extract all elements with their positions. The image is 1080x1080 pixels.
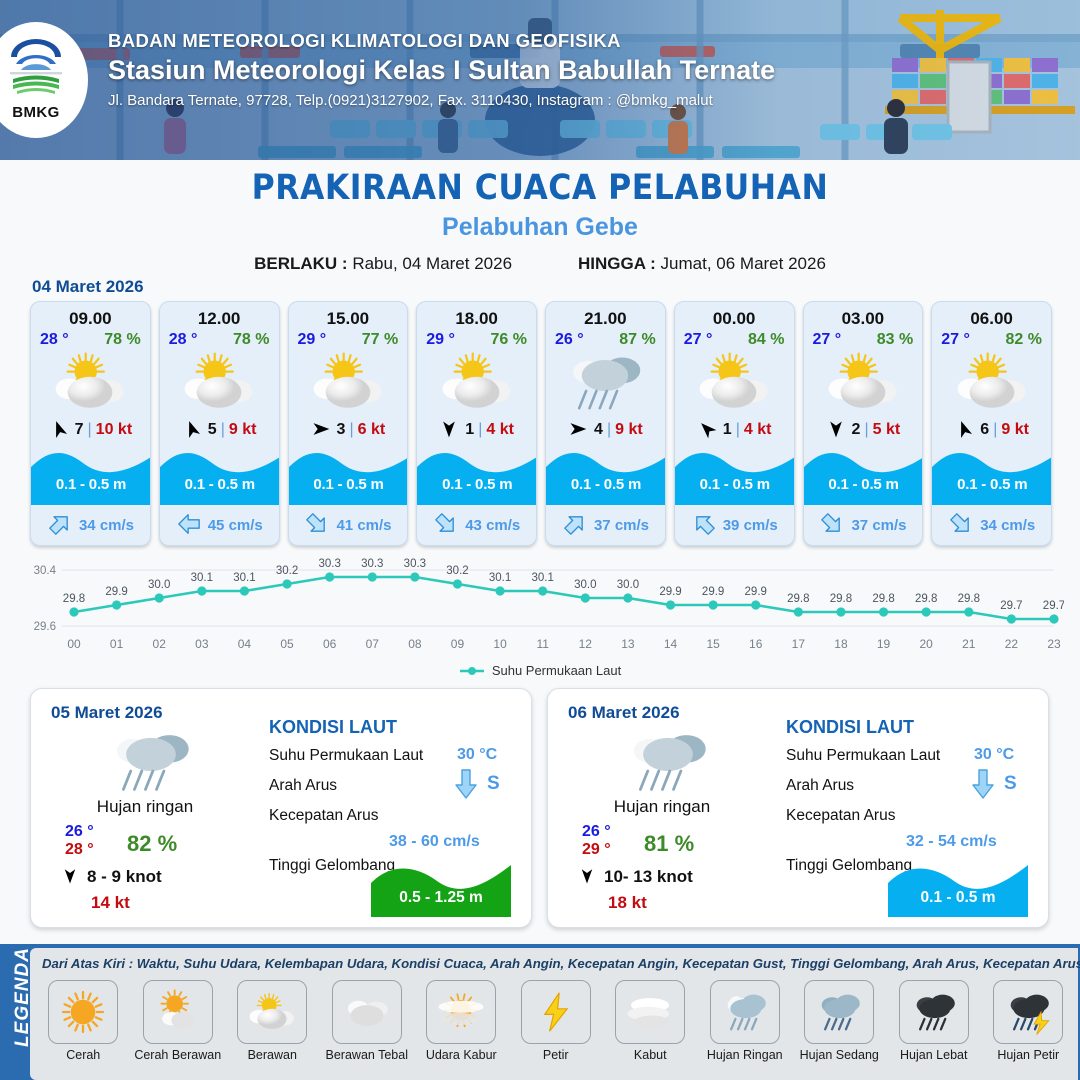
bmkg-logo-text: BMKG <box>12 104 59 121</box>
svg-text:30.0: 30.0 <box>148 579 170 591</box>
card-wind-row: 3 | 6 kt <box>289 415 408 445</box>
card-wave-graphic <box>417 445 537 505</box>
daily-wave-height: 0.5 - 1.25 m <box>371 889 511 907</box>
legend-item: Udara Kabur <box>414 980 509 1062</box>
svg-text:05: 05 <box>280 637 294 651</box>
legend-icon-box <box>804 980 874 1044</box>
current-direction-value: S <box>487 773 500 795</box>
card-temp-humidity-row: 27 ° 82 % <box>932 329 1051 349</box>
card-weather-icon <box>31 351 150 413</box>
card-wind-separator: | <box>221 421 225 439</box>
daily-gust: 14 kt <box>91 893 130 913</box>
wind-direction-icon <box>568 419 588 439</box>
card-time: 12.00 <box>160 309 279 329</box>
current-direction-icon <box>687 508 720 541</box>
daily-weather-icon <box>622 725 714 802</box>
forecast-card: 09.00 28 ° 78 % 7 <box>30 301 151 546</box>
sst-value: 30 °C <box>457 746 497 764</box>
svg-text:29.8: 29.8 <box>872 593 894 605</box>
card-wave-height: 0.1 - 0.5 m <box>546 476 666 493</box>
current-direction-icon <box>48 513 74 537</box>
card-wave-height: 0.1 - 0.5 m <box>289 476 409 493</box>
svg-text:30.2: 30.2 <box>276 565 298 577</box>
card-wind-row: 6 | 9 kt <box>932 415 1051 445</box>
card-time: 18.00 <box>417 309 536 329</box>
card-wave-graphic <box>804 445 924 505</box>
legend-item: Cerah Berawan <box>131 980 226 1062</box>
valid-from: BERLAKU : Rabu, 04 Maret 2026 <box>254 254 512 274</box>
card-temperature: 29 ° <box>298 331 327 349</box>
page-title: PRAKIRAAN CUACA PELABUHAN <box>0 168 1080 208</box>
card-wind-row: 5 | 9 kt <box>160 415 279 445</box>
current-speed-value: 38 - 60 cm/s <box>389 833 480 851</box>
card-current-row: 34 cm/s <box>932 513 1052 537</box>
legend-icon-box <box>48 980 118 1044</box>
legend-item: Berawan <box>225 980 320 1062</box>
card-wave-graphic <box>546 445 666 505</box>
card-wave-height: 0.1 - 0.5 m <box>31 476 151 493</box>
card-current-row: 34 cm/s <box>31 513 151 537</box>
legend-line-marker <box>459 666 485 676</box>
card-wave-graphic <box>932 445 1052 505</box>
svg-text:10: 10 <box>493 637 507 651</box>
card-time: 15.00 <box>289 309 408 329</box>
card-wind-degree: 2 <box>852 421 861 439</box>
daily-wave-height: 0.1 - 0.5 m <box>888 889 1028 907</box>
card-wind-separator: | <box>607 421 611 439</box>
bmkg-logo-mark <box>5 39 67 103</box>
wind-direction-icon <box>179 416 205 442</box>
sun-icon <box>60 989 106 1035</box>
daily-condition: Hujan ringan <box>31 797 259 817</box>
card-wave-height: 0.1 - 0.5 m <box>417 476 537 493</box>
current-speed-value: 32 - 54 cm/s <box>906 833 997 851</box>
card-weather-icon <box>546 351 665 413</box>
forecast-card: 03.00 27 ° 83 % 2 <box>803 301 924 546</box>
card-current-speed: 41 cm/s <box>336 517 391 534</box>
page-header: BMKG BADAN METEOROLOGI KLIMATOLOGI DAN G… <box>0 0 1080 160</box>
current-direction-icon <box>949 513 975 537</box>
daily-temperature-group: 26 ° 29 ° <box>582 823 611 859</box>
wind-direction-icon <box>182 419 204 441</box>
moderate-rain-icon <box>813 986 865 1038</box>
card-current-speed: 39 cm/s <box>723 517 778 534</box>
current-direction-icon <box>178 512 200 536</box>
valid-from-label: BERLAKU : <box>254 254 348 273</box>
card-wave-graphic <box>31 445 151 505</box>
card-wind-degree: 1 <box>723 421 732 439</box>
current-direction-icon <box>816 508 849 541</box>
legend-item: Hujan Ringan <box>698 980 793 1062</box>
legend-item-label: Hujan Sedang <box>800 1048 879 1062</box>
card-wind-degree: 7 <box>75 421 84 439</box>
svg-text:29.8: 29.8 <box>830 593 852 605</box>
wind-direction-icon <box>951 416 977 442</box>
wind-direction-icon <box>311 419 333 441</box>
card-gust: 9 kt <box>615 421 643 439</box>
legend-icon-box <box>521 980 591 1044</box>
valid-to: HINGGA : Jumat, 06 Maret 2026 <box>578 254 826 274</box>
svg-text:17: 17 <box>792 637 806 651</box>
card-wave-height: 0.1 - 0.5 m <box>932 476 1052 493</box>
valid-to-label: HINGGA : <box>578 254 656 273</box>
wind-direction-icon <box>697 419 719 441</box>
card-gust: 9 kt <box>229 421 257 439</box>
legend-icon-box <box>237 980 307 1044</box>
agency-name: BADAN METEOROLOGI KLIMATOLOGI DAN GEOFIS… <box>108 30 868 52</box>
daily-date: 05 Maret 2026 <box>51 703 163 723</box>
card-time: 09.00 <box>31 309 150 329</box>
legend-icon-box <box>615 980 685 1044</box>
card-temp-humidity-row: 28 ° 78 % <box>160 329 279 349</box>
sst-value: 30 °C <box>974 746 1014 764</box>
legend-item-label: Udara Kabur <box>426 1048 497 1062</box>
card-wave-graphic <box>289 445 409 505</box>
svg-text:16: 16 <box>749 637 763 651</box>
card-current-speed: 34 cm/s <box>79 517 134 534</box>
svg-text:01: 01 <box>110 637 124 651</box>
card-temp-humidity-row: 26 ° 87 % <box>546 329 665 349</box>
card-gust: 10 kt <box>96 421 132 439</box>
legend-icon-box <box>143 980 213 1044</box>
svg-text:30.0: 30.0 <box>617 579 639 591</box>
card-current-row: 37 cm/s <box>804 513 924 537</box>
card-gust: 4 kt <box>744 421 772 439</box>
current-direction-icon <box>434 513 460 537</box>
card-wind-separator: | <box>864 421 868 439</box>
card-wind-separator: | <box>88 421 92 439</box>
current-direction-icon <box>945 508 978 541</box>
svg-text:19: 19 <box>877 637 891 651</box>
card-weather-icon <box>675 351 794 413</box>
daily-temp-max: 29 ° <box>582 841 611 859</box>
daily-temp-min: 26 ° <box>582 823 611 841</box>
card-current-speed: 45 cm/s <box>208 517 263 534</box>
card-wind-separator: | <box>349 421 353 439</box>
card-wind-degree: 4 <box>594 421 603 439</box>
card-wind-row: 1 | 4 kt <box>417 415 536 445</box>
card-current-row: 39 cm/s <box>675 513 795 537</box>
svg-text:06: 06 <box>323 637 337 651</box>
svg-text:02: 02 <box>153 637 167 651</box>
card-humidity: 82 % <box>1006 331 1042 349</box>
wind-direction-icon <box>693 415 721 443</box>
svg-text:30.4: 30.4 <box>34 565 57 577</box>
sun-cloud-icon <box>176 351 262 413</box>
svg-text:29.9: 29.9 <box>105 586 127 598</box>
card-time: 21.00 <box>546 309 665 329</box>
current-speed-label: Kecepatan Arus <box>269 807 378 825</box>
legend-icon-box <box>899 980 969 1044</box>
card-wind-degree: 1 <box>465 421 474 439</box>
svg-text:30.0: 30.0 <box>574 579 596 591</box>
svg-text:29.8: 29.8 <box>787 593 809 605</box>
daily-humidity: 82 % <box>127 831 177 857</box>
svg-text:14: 14 <box>664 637 678 651</box>
wind-direction-icon <box>568 419 590 441</box>
fog-icon <box>624 986 676 1038</box>
sun-cloud-icon <box>244 992 300 1032</box>
card-weather-icon <box>289 351 408 413</box>
card-humidity: 76 % <box>491 331 527 349</box>
svg-text:29.9: 29.9 <box>659 586 681 598</box>
cloud-icon <box>341 986 393 1038</box>
wind-direction-icon <box>954 419 976 441</box>
card-wind-row: 4 | 9 kt <box>546 415 665 445</box>
svg-text:04: 04 <box>238 637 252 651</box>
svg-text:00: 00 <box>67 637 81 651</box>
daily-temperature-group: 26 ° 28 ° <box>65 823 94 859</box>
card-gust: 4 kt <box>486 421 514 439</box>
sst-label: Suhu Permukaan Laut <box>786 747 940 765</box>
legend-item-label: Hujan Petir <box>997 1048 1059 1062</box>
card-humidity: 87 % <box>619 331 655 349</box>
svg-text:09: 09 <box>451 637 465 651</box>
svg-text:07: 07 <box>366 637 380 651</box>
wind-direction-icon <box>826 419 848 441</box>
legend-item-label: Hujan Ringan <box>707 1048 783 1062</box>
daily-wind-speed: 8 - 9 knot <box>87 867 162 887</box>
card-wind-degree: 5 <box>208 421 217 439</box>
page-subtitle: Pelabuhan Gebe <box>0 213 1080 242</box>
card-temperature: 28 ° <box>40 331 69 349</box>
legenda-note: Dari Atas Kiri : Waktu, Suhu Udara, Kele… <box>42 956 1072 971</box>
legend-item: Kabut <box>603 980 698 1062</box>
card-wind-separator: | <box>478 421 482 439</box>
current-direction-value: S <box>1004 773 1017 795</box>
card-time: 03.00 <box>804 309 923 329</box>
current-direction-icon <box>305 513 331 537</box>
current-direction-icon <box>455 769 477 799</box>
sea-condition-title: KONDISI LAUT <box>786 717 914 738</box>
forecast-card: 06.00 27 ° 82 % 6 <box>931 301 1052 546</box>
wind-direction-icon <box>578 867 598 887</box>
svg-text:30.1: 30.1 <box>233 572 255 584</box>
forecast-card-list: 09.00 28 ° 78 % 7 <box>30 301 1052 546</box>
svg-text:29.7: 29.7 <box>1000 600 1022 612</box>
legend-icon-box <box>993 980 1063 1044</box>
chart-legend: Suhu Permukaan Laut <box>0 663 1080 678</box>
card-weather-icon <box>160 351 279 413</box>
legend-item: Hujan Sedang <box>792 980 887 1062</box>
card-weather-icon <box>932 351 1051 413</box>
sun-cloud-icon <box>820 351 906 413</box>
card-humidity: 83 % <box>877 331 913 349</box>
legend-item-label: Berawan Tebal <box>326 1048 408 1062</box>
legend-icon-box <box>426 980 496 1044</box>
wind-direction-icon <box>61 867 81 887</box>
legend-item-label: Berawan <box>248 1048 297 1062</box>
valid-from-value: Rabu, 04 Maret 2026 <box>352 254 512 273</box>
daily-panel: 05 Maret 2026 Hujan ringan 26 ° 28 ° 82 … <box>30 688 532 928</box>
card-wave-graphic <box>160 445 280 505</box>
forecast-card: 18.00 29 ° 76 % 1 <box>416 301 537 546</box>
daily-wind-row: 10- 13 knot <box>578 867 693 887</box>
daily-temp-min: 26 ° <box>65 823 94 841</box>
daily-humidity: 81 % <box>644 831 694 857</box>
daily-temp-max: 28 ° <box>65 841 94 859</box>
svg-text:30.1: 30.1 <box>532 572 554 584</box>
current-direction-icon <box>44 508 77 541</box>
wind-direction-icon <box>46 416 72 442</box>
wind-direction-icon <box>439 419 461 441</box>
card-weather-icon <box>417 351 536 413</box>
card-current-speed: 43 cm/s <box>465 517 520 534</box>
station-name: Stasiun Meteorologi Kelas I Sultan Babul… <box>108 55 868 86</box>
svg-text:30.3: 30.3 <box>361 558 383 570</box>
current-direction-icon <box>301 508 334 541</box>
svg-text:15: 15 <box>706 637 720 651</box>
daily-wind-row: 8 - 9 knot <box>61 867 162 887</box>
svg-text:29.6: 29.6 <box>34 621 56 633</box>
legenda-panel: Dari Atas Kiri : Waktu, Suhu Udara, Kele… <box>30 948 1078 1080</box>
wind-direction-icon <box>49 419 71 441</box>
current-direction-icon <box>177 513 203 537</box>
sst-chart-svg: 30.429.629.80029.90130.00230.10330.10430… <box>16 556 1064 678</box>
card-humidity: 77 % <box>362 331 398 349</box>
card-gust: 9 kt <box>1001 421 1029 439</box>
svg-text:29.9: 29.9 <box>702 586 724 598</box>
card-current-speed: 37 cm/s <box>594 517 649 534</box>
card-wave-height: 0.1 - 0.5 m <box>160 476 280 493</box>
card-gust: 6 kt <box>358 421 386 439</box>
daily-panel: 06 Maret 2026 Hujan ringan 26 ° 29 ° 81 … <box>547 688 1049 928</box>
svg-text:21: 21 <box>962 637 976 651</box>
svg-text:23: 23 <box>1047 637 1061 651</box>
rain-cloud-icon <box>622 725 714 797</box>
sst-label: Suhu Permukaan Laut <box>269 747 423 765</box>
daily-wind-speed: 10- 13 knot <box>604 867 693 887</box>
card-current-row: 43 cm/s <box>417 513 537 537</box>
card-wave-height: 0.1 - 0.5 m <box>675 476 795 493</box>
valid-to-value: Jumat, 06 Maret 2026 <box>661 254 826 273</box>
svg-text:12: 12 <box>579 637 593 651</box>
sun-small-cloud-icon <box>153 987 203 1037</box>
svg-text:29.7: 29.7 <box>1043 600 1064 612</box>
svg-text:29.9: 29.9 <box>745 586 767 598</box>
svg-text:30.1: 30.1 <box>191 572 213 584</box>
light-rain-icon <box>719 986 771 1038</box>
svg-text:13: 13 <box>621 637 635 651</box>
card-temperature: 28 ° <box>169 331 198 349</box>
wind-direction-icon <box>61 867 79 885</box>
current-direction-label: Arah Arus <box>269 777 337 795</box>
wind-direction-icon <box>578 867 596 885</box>
card-wave-height: 0.1 - 0.5 m <box>804 476 924 493</box>
legend-bar: LEGENDA Dari Atas Kiri : Waktu, Suhu Uda… <box>0 944 1080 1080</box>
svg-text:08: 08 <box>408 637 422 651</box>
legend-item: Cerah <box>36 980 131 1062</box>
daily-weather-icon <box>105 725 197 802</box>
card-current-row: 45 cm/s <box>160 513 280 537</box>
rain-cloud-icon <box>562 348 648 415</box>
svg-text:22: 22 <box>1005 637 1019 651</box>
legend-item: Berawan Tebal <box>320 980 415 1062</box>
card-gust: 5 kt <box>873 421 901 439</box>
card-temperature: 26 ° <box>555 331 584 349</box>
svg-text:30.1: 30.1 <box>489 572 511 584</box>
svg-text:30.3: 30.3 <box>404 558 426 570</box>
card-time: 00.00 <box>675 309 794 329</box>
haze-sun-icon <box>435 986 487 1038</box>
station-contact: Jl. Bandara Ternate, 97728, Telp.(0921)3… <box>108 92 868 109</box>
svg-text:03: 03 <box>195 637 209 651</box>
sst-chart: 30.429.629.80029.90130.00230.10330.10430… <box>16 556 1064 678</box>
current-speed-label: Kecepatan Arus <box>786 807 895 825</box>
card-weather-icon <box>804 351 923 413</box>
legend-item-label: Cerah <box>66 1048 100 1062</box>
sun-cloud-icon <box>691 351 777 413</box>
svg-text:30.3: 30.3 <box>318 558 340 570</box>
card-wind-degree: 6 <box>980 421 989 439</box>
legend-icon-box <box>710 980 780 1044</box>
thunderstorm-icon <box>1002 986 1054 1038</box>
card-wind-separator: | <box>736 421 740 439</box>
rain-cloud-icon <box>105 725 197 797</box>
current-direction-icon <box>972 769 994 804</box>
card-humidity: 78 % <box>233 331 269 349</box>
sun-cloud-icon <box>949 351 1035 413</box>
legend-item-label: Hujan Lebat <box>900 1048 967 1062</box>
forecast-card: 00.00 27 ° 84 % 1 <box>674 301 795 546</box>
sun-cloud-icon <box>305 351 391 413</box>
card-current-speed: 37 cm/s <box>851 517 906 534</box>
daily-gust: 18 kt <box>608 893 647 913</box>
card-temp-humidity-row: 27 ° 83 % <box>804 329 923 349</box>
wind-direction-icon <box>439 419 459 439</box>
title-block: PRAKIRAAN CUACA PELABUHAN Pelabuhan Gebe… <box>0 168 1080 274</box>
legend-item-label: Cerah Berawan <box>134 1048 221 1062</box>
card-temp-humidity-row: 29 ° 76 % <box>417 329 536 349</box>
current-direction-icon <box>430 508 463 541</box>
legend-icon-box <box>332 980 402 1044</box>
svg-text:20: 20 <box>919 637 933 651</box>
card-temperature: 27 ° <box>813 331 842 349</box>
svg-text:29.8: 29.8 <box>915 593 937 605</box>
legend-item-label: Kabut <box>634 1048 667 1062</box>
lightning-icon <box>532 988 580 1036</box>
heavy-rain-icon <box>908 986 960 1038</box>
svg-text:30.2: 30.2 <box>446 565 468 577</box>
card-temperature: 29 ° <box>426 331 455 349</box>
wind-direction-icon <box>311 419 331 439</box>
forecast-date-label: 04 Maret 2026 <box>32 277 144 297</box>
card-wind-degree: 3 <box>337 421 346 439</box>
wind-direction-icon <box>826 419 846 439</box>
current-direction-icon <box>972 769 994 799</box>
current-direction-icon <box>559 508 592 541</box>
legend-label: Suhu Permukaan Laut <box>492 663 621 678</box>
card-wave-graphic <box>675 445 795 505</box>
daily-date: 06 Maret 2026 <box>568 703 680 723</box>
current-direction-icon <box>455 769 477 804</box>
legend-item: Hujan Lebat <box>887 980 982 1062</box>
current-direction-icon <box>563 513 589 537</box>
forecast-card: 12.00 28 ° 78 % 5 <box>159 301 280 546</box>
legenda-item-list: Cerah Cerah Berawan Berawan <box>36 980 1076 1062</box>
card-current-row: 41 cm/s <box>289 513 409 537</box>
current-direction-label: Arah Arus <box>786 777 854 795</box>
forecast-card: 15.00 29 ° 77 % 3 <box>288 301 409 546</box>
svg-text:18: 18 <box>834 637 848 651</box>
card-wind-separator: | <box>993 421 997 439</box>
daily-condition: Hujan ringan <box>548 797 776 817</box>
card-temp-humidity-row: 27 ° 84 % <box>675 329 794 349</box>
card-current-speed: 34 cm/s <box>980 517 1035 534</box>
card-wind-row: 2 | 5 kt <box>804 415 923 445</box>
legend-item: Petir <box>509 980 604 1062</box>
current-direction-icon <box>692 513 718 537</box>
